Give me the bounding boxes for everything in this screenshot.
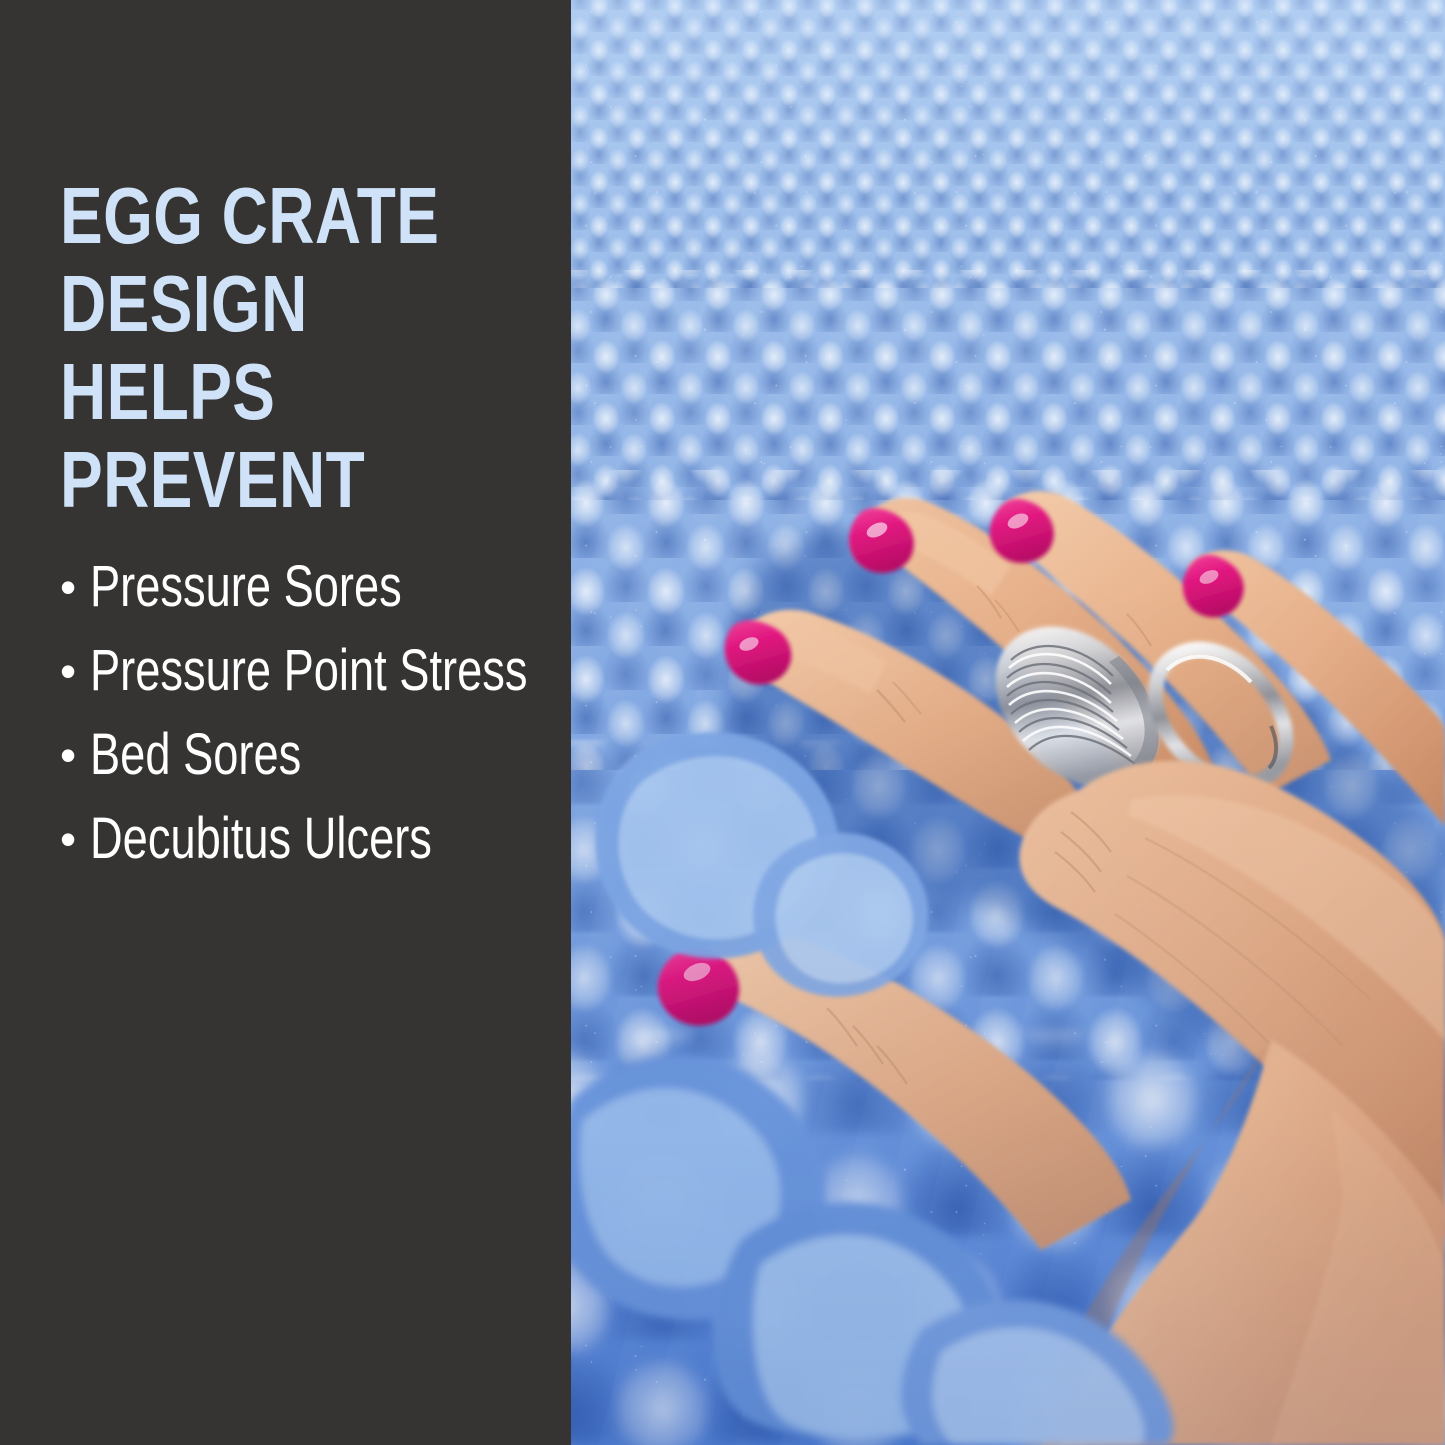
list-item-label: Bed Sores [90, 713, 301, 797]
product-feature-image: EGG CRATE DESIGN HELPS PREVENT • Pressur… [0, 0, 1445, 1445]
list-item-label: Pressure Point Stress [90, 629, 527, 713]
list-item-label: Pressure Sores [90, 545, 402, 629]
list-item: • Bed Sores [58, 713, 618, 797]
info-panel: EGG CRATE DESIGN HELPS PREVENT • Pressur… [0, 0, 571, 1445]
bullet-marker-icon: • [60, 797, 73, 881]
foam-bumps-mid [571, 470, 1445, 770]
page-title: EGG CRATE DESIGN HELPS PREVENT [60, 172, 460, 524]
foam-bumps-near [571, 1030, 1445, 1445]
bullet-marker-icon: • [60, 629, 73, 713]
foam-bumps-far [571, 0, 1445, 288]
benefits-list: • Pressure Sores • Pressure Point Stress… [58, 545, 618, 881]
foam-bumps-near-mid [571, 740, 1445, 1080]
bullet-marker-icon: • [60, 713, 73, 797]
foam-product-photo [571, 0, 1445, 1445]
list-item-label: Decubitus Ulcers [90, 797, 432, 881]
list-item: • Pressure Point Stress [58, 629, 618, 713]
foam-bumps-mid-far [571, 270, 1445, 500]
list-item: • Pressure Sores [58, 545, 618, 629]
list-item: • Decubitus Ulcers [58, 797, 618, 881]
bullet-marker-icon: • [60, 545, 73, 629]
